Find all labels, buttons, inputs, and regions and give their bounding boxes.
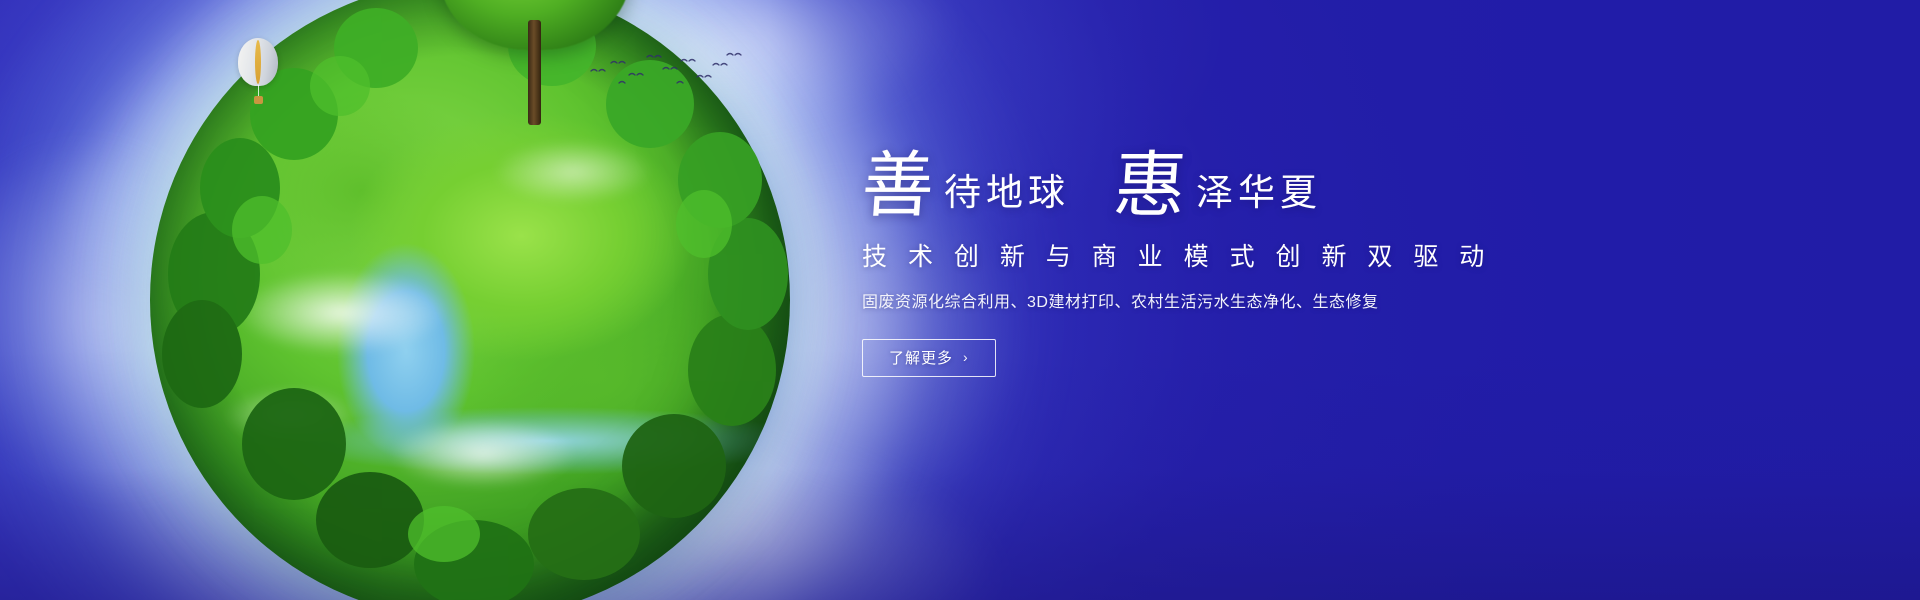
hot-air-balloon-icon [238, 38, 278, 110]
headline-big-char-2: 惠 [1112, 152, 1189, 220]
headline-group-1: 善 待地球 [862, 152, 1070, 220]
headline-small-text-2: 泽华夏 [1196, 174, 1322, 220]
description: 固废资源化综合利用、3D建材打印、农村生活污水生态净化、生态修复 [862, 292, 1562, 314]
subtitle: 技 术 创 新 与 商 业 模 式 创 新 双 驱 动 [862, 242, 1562, 273]
hero-content: 善 待地球 惠 泽华夏 技 术 创 新 与 商 业 模 式 创 新 双 驱 动 … [862, 128, 1562, 377]
headline-big-char-1: 善 [860, 152, 937, 220]
learn-more-label: 了解更多 [889, 347, 953, 368]
birds-flock-icon [585, 45, 745, 93]
hero-banner: 善 待地球 惠 泽华夏 技 术 创 新 与 商 业 模 式 创 新 双 驱 动 … [0, 0, 1920, 600]
headline-group-2: 惠 泽华夏 [1114, 152, 1322, 220]
chevron-right-icon: › [963, 350, 969, 364]
headline: 善 待地球 惠 泽华夏 [862, 128, 1562, 220]
headline-small-text-1: 待地球 [944, 174, 1070, 220]
learn-more-button[interactable]: 了解更多 › [862, 339, 996, 377]
